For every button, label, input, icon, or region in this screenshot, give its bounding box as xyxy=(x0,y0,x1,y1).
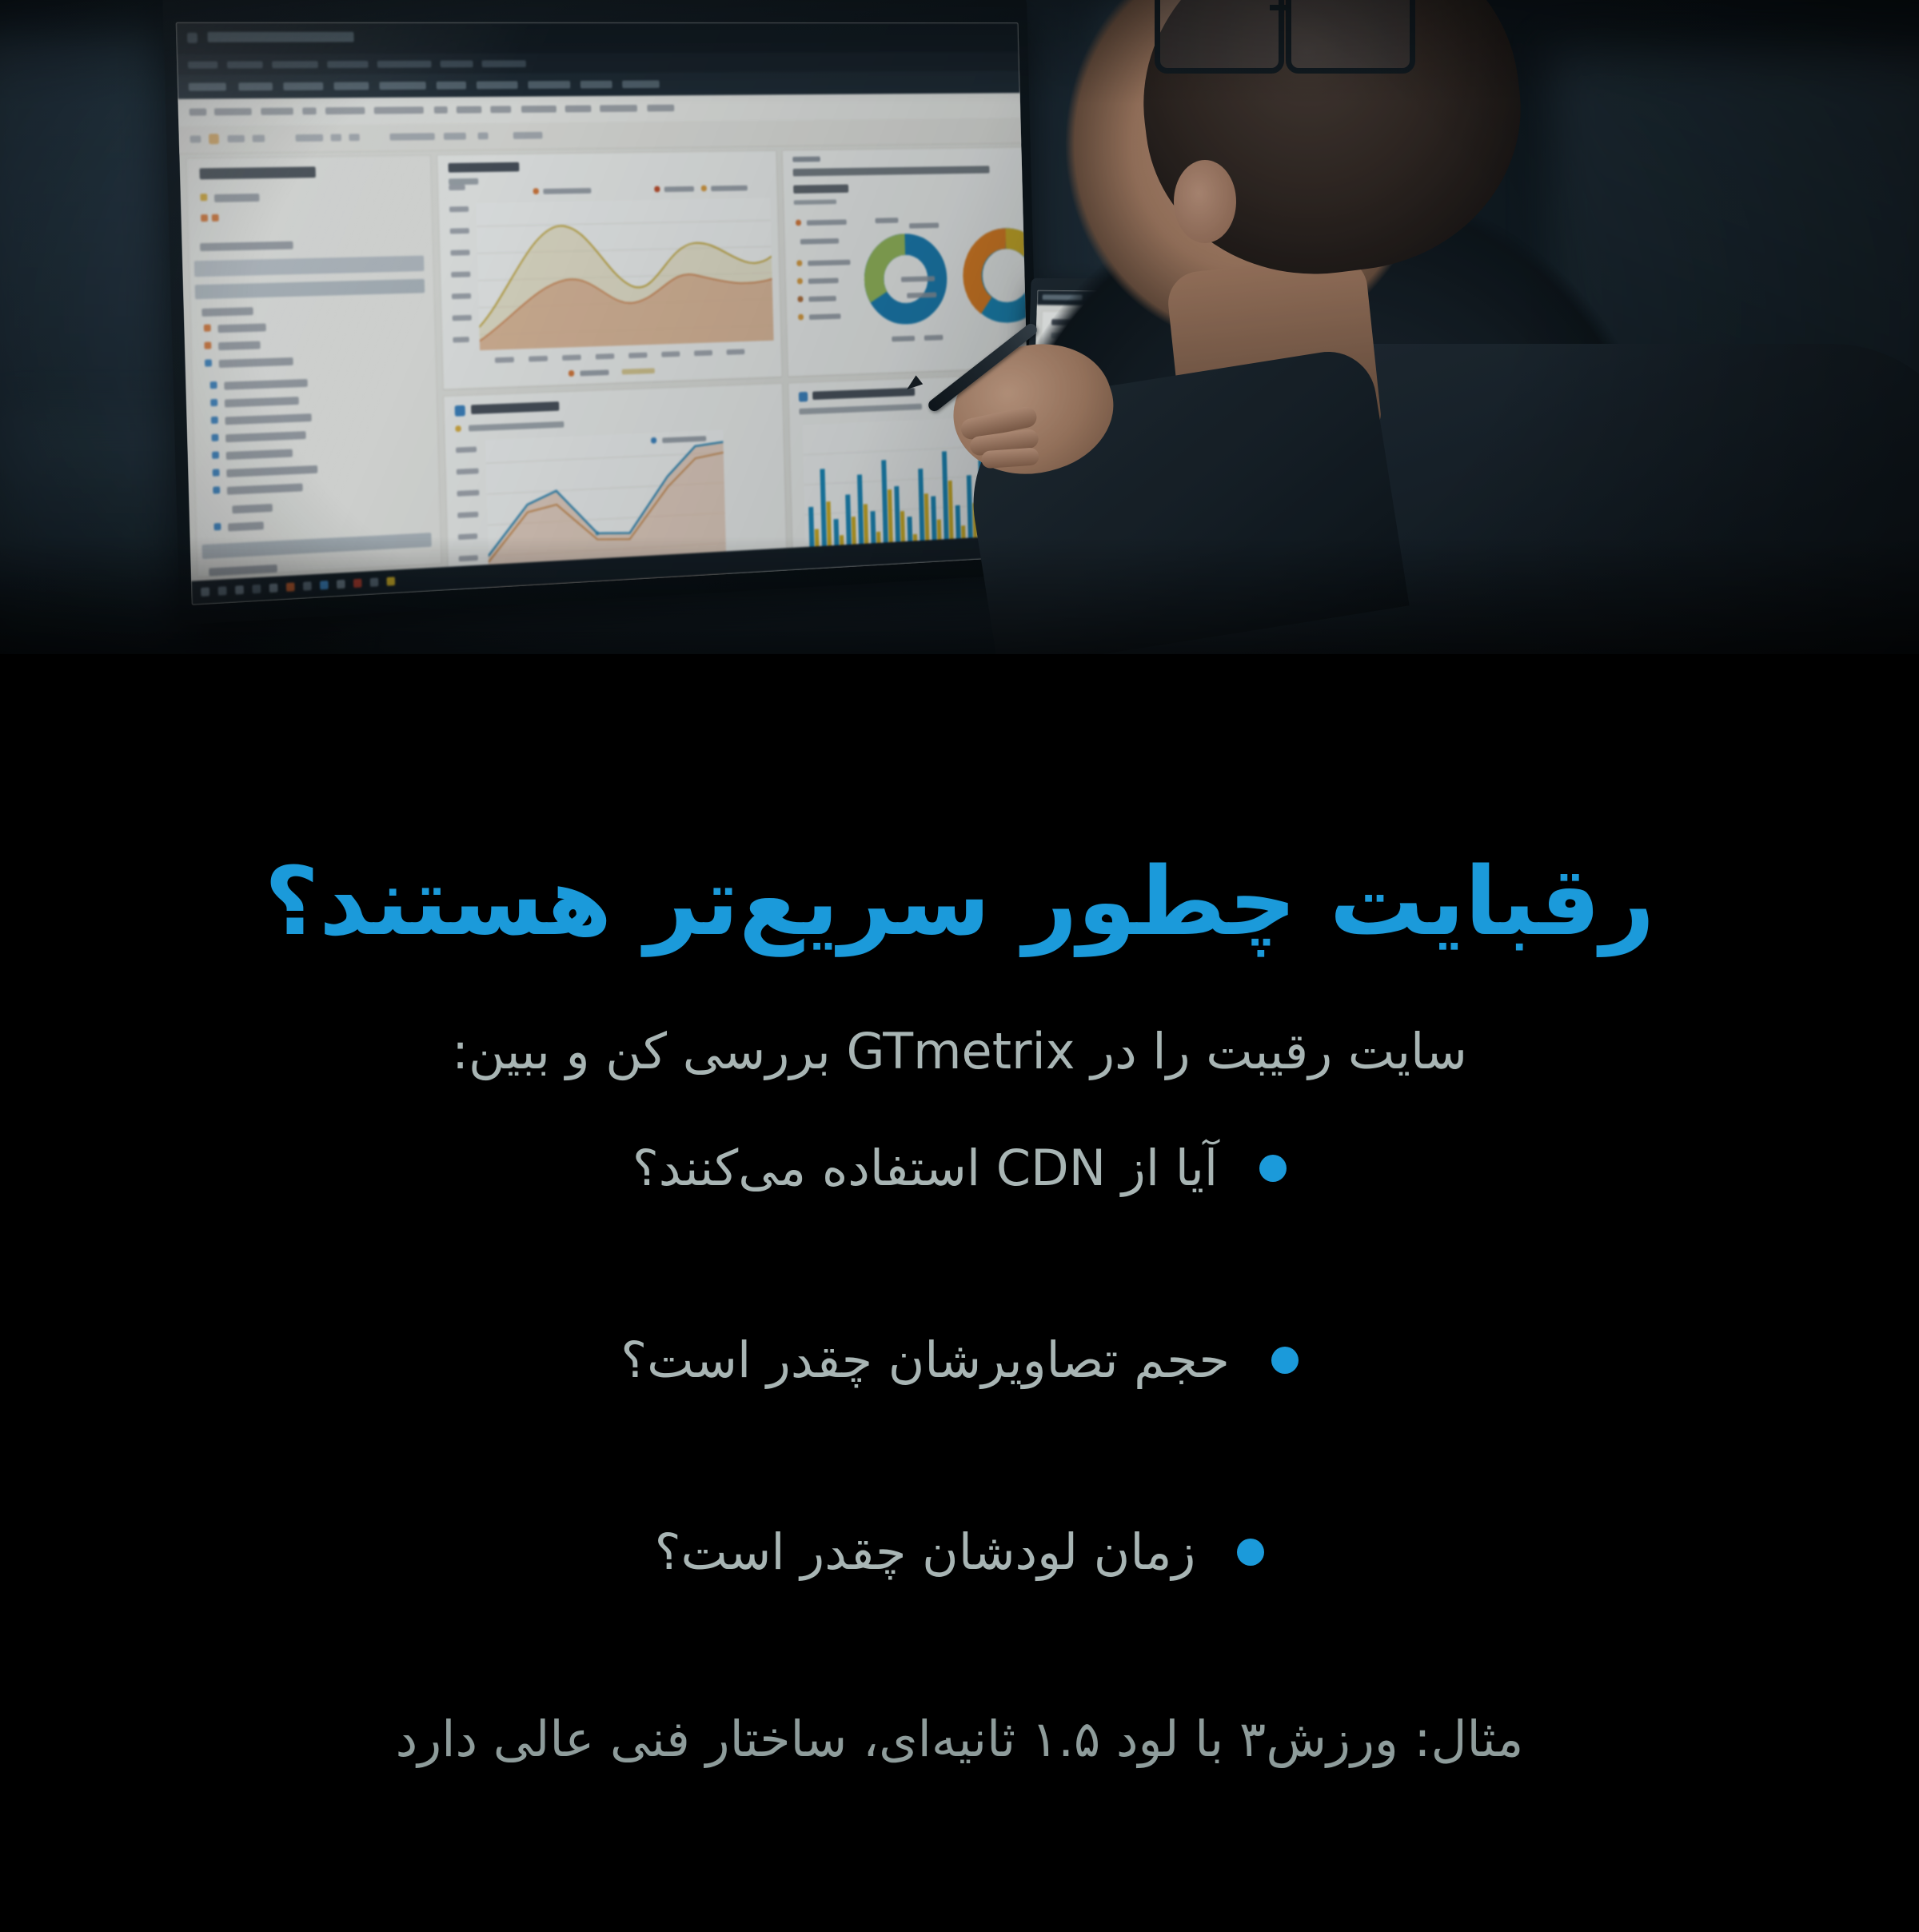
card-title xyxy=(471,401,559,414)
list-item-label: آیا از CDN استفاده می‌کنند؟ xyxy=(632,1134,1218,1204)
page-title: رقبایت چطور سریع‌تر هستند؟ xyxy=(144,846,1775,957)
list-item: حجم تصاویرشان چقدر است؟ xyxy=(144,1326,1775,1518)
list-item-label: زمان لودشان چقدر است؟ xyxy=(655,1518,1196,1587)
bullet-list: آیا از CDN استفاده می‌کنند؟ حجم تصاویرشا… xyxy=(144,1134,1775,1710)
taskbar-icon xyxy=(337,580,345,589)
card-title xyxy=(812,388,915,400)
taskbar-icon xyxy=(235,585,244,595)
slide-root: رقبایت چطور سریع‌تر هستند؟ سایت رقیبت را… xyxy=(0,0,1919,1932)
text-content-area: رقبایت چطور سریع‌تر هستند؟ سایت رقیبت را… xyxy=(0,654,1919,1932)
monitor xyxy=(162,0,1041,625)
person-ear xyxy=(1174,160,1236,243)
taskbar-icon xyxy=(218,586,227,596)
footnote: مثال: ورزش۳ با لود ۱.۵ ثانیه‌ای، ساختار … xyxy=(144,1702,1775,1776)
dashboard-sidebar xyxy=(186,155,441,578)
sidebar-title xyxy=(199,166,315,179)
bullet-dot-icon xyxy=(1271,1347,1299,1374)
taskbar-icon xyxy=(353,579,362,588)
taskbar-icon xyxy=(386,577,395,585)
app-logo-icon xyxy=(187,33,197,43)
card-title xyxy=(793,166,990,176)
card-eyebrow xyxy=(792,157,820,162)
list-item: آیا از CDN استفاده می‌کنند؟ xyxy=(144,1134,1775,1326)
card-title xyxy=(448,162,519,173)
taskbar-icon xyxy=(286,582,295,591)
list-item: زمان لودشان چقدر است؟ xyxy=(144,1518,1775,1710)
bullet-dot-icon xyxy=(1259,1155,1287,1182)
app-title-text xyxy=(207,32,353,42)
taskbar-icon xyxy=(370,578,379,587)
area-chart-top-card xyxy=(437,150,782,389)
taskbar-icon xyxy=(320,581,329,589)
taskbar-icon xyxy=(252,585,261,593)
list-item-label: حجم تصاویرشان چقدر است؟ xyxy=(620,1326,1230,1395)
hero-photo xyxy=(0,0,1919,654)
taskbar-icon xyxy=(269,584,278,593)
taskbar-icon xyxy=(303,581,312,590)
monitor-screen xyxy=(176,22,1031,605)
taskbar-icon xyxy=(201,587,209,597)
glasses-icon xyxy=(1151,0,1423,78)
app-titlebar xyxy=(176,22,1019,54)
bullet-dot-icon xyxy=(1237,1539,1264,1566)
subtitle: سایت رقیبت را در GTmetrix بررسی کن و ببی… xyxy=(144,1014,1775,1088)
area-chart-top xyxy=(476,198,773,350)
